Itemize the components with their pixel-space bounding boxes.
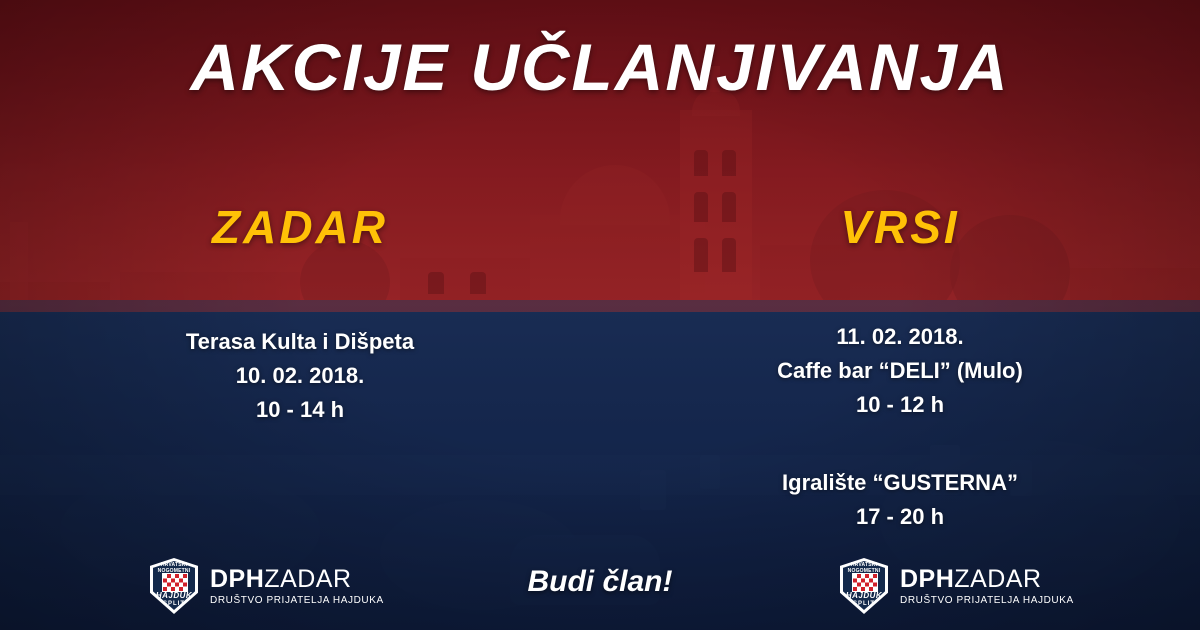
poster-content: AKCIJE UČLANJIVANJA ZADAR VRSI Terasa Ku… <box>0 0 1200 630</box>
logo-text-block: DPHZADAR DRUŠTVO PRIJATELJA HAJDUKA <box>210 567 384 606</box>
event-line-time: 10 - 12 h <box>600 388 1200 422</box>
logo-subtitle: DRUŠTVO PRIJATELJA HAJDUKA <box>210 596 384 606</box>
logo-text-block: DPHZADAR DRUŠTVO PRIJATELJA HAJDUKA <box>900 567 1074 606</box>
event-line-time: 17 - 20 h <box>600 500 1200 534</box>
event-block-zadar: Terasa Kulta i Dišpeta 10. 02. 2018. 10 … <box>0 325 600 427</box>
event-line-venue: Caffe bar “DELI” (Mulo) <box>600 354 1200 388</box>
event-line-date: 10. 02. 2018. <box>0 359 600 393</box>
poster-canvas: AKCIJE UČLANJIVANJA ZADAR VRSI Terasa Ku… <box>0 0 1200 630</box>
event-line-venue: Terasa Kulta i Dišpeta <box>0 325 600 359</box>
logo-name-bold: DPH <box>210 565 264 593</box>
hajduk-crest-icon: HRVATSKI NOGOMETNI KLUB HAJDUK SPLIT <box>150 558 198 614</box>
event-line-time: 10 - 14 h <box>0 393 600 427</box>
logo-name: DPHZADAR <box>210 567 384 592</box>
city-title-zadar: ZADAR <box>0 200 600 254</box>
crest-bottom-text: SPLIT <box>150 601 198 607</box>
crest-mid-text: HAJDUK <box>840 591 888 600</box>
event-line-date: 11. 02. 2018. <box>600 320 1200 354</box>
event-line-venue: Igralište “GUSTERNA” <box>600 466 1200 500</box>
logo-subtitle: DRUŠTVO PRIJATELJA HAJDUKA <box>900 596 1074 606</box>
crest-checkerboard-icon <box>162 573 188 592</box>
crest-mid-text: HAJDUK <box>150 591 198 600</box>
crest-bottom-text: SPLIT <box>840 601 888 607</box>
logo-name-bold: DPH <box>900 565 954 593</box>
logo-lockup-left: HRVATSKI NOGOMETNI KLUB HAJDUK SPLIT DPH… <box>150 558 384 614</box>
event-block-vrsi-first: 11. 02. 2018. Caffe bar “DELI” (Mulo) 10… <box>600 320 1200 422</box>
crest-checkerboard-icon <box>852 573 878 592</box>
logo-name-thin: ZADAR <box>264 565 351 593</box>
poster-headline: AKCIJE UČLANJIVANJA <box>0 28 1200 106</box>
logo-name-thin: ZADAR <box>954 565 1041 593</box>
poster-slogan: Budi član! <box>420 565 780 599</box>
hajduk-crest-icon: HRVATSKI NOGOMETNI KLUB HAJDUK SPLIT <box>840 558 888 614</box>
event-block-vrsi-second: Igralište “GUSTERNA” 17 - 20 h <box>600 466 1200 534</box>
logo-lockup-right: HRVATSKI NOGOMETNI KLUB HAJDUK SPLIT DPH… <box>840 558 1074 614</box>
logo-name: DPHZADAR <box>900 567 1074 592</box>
city-title-vrsi: VRSI <box>600 200 1200 254</box>
